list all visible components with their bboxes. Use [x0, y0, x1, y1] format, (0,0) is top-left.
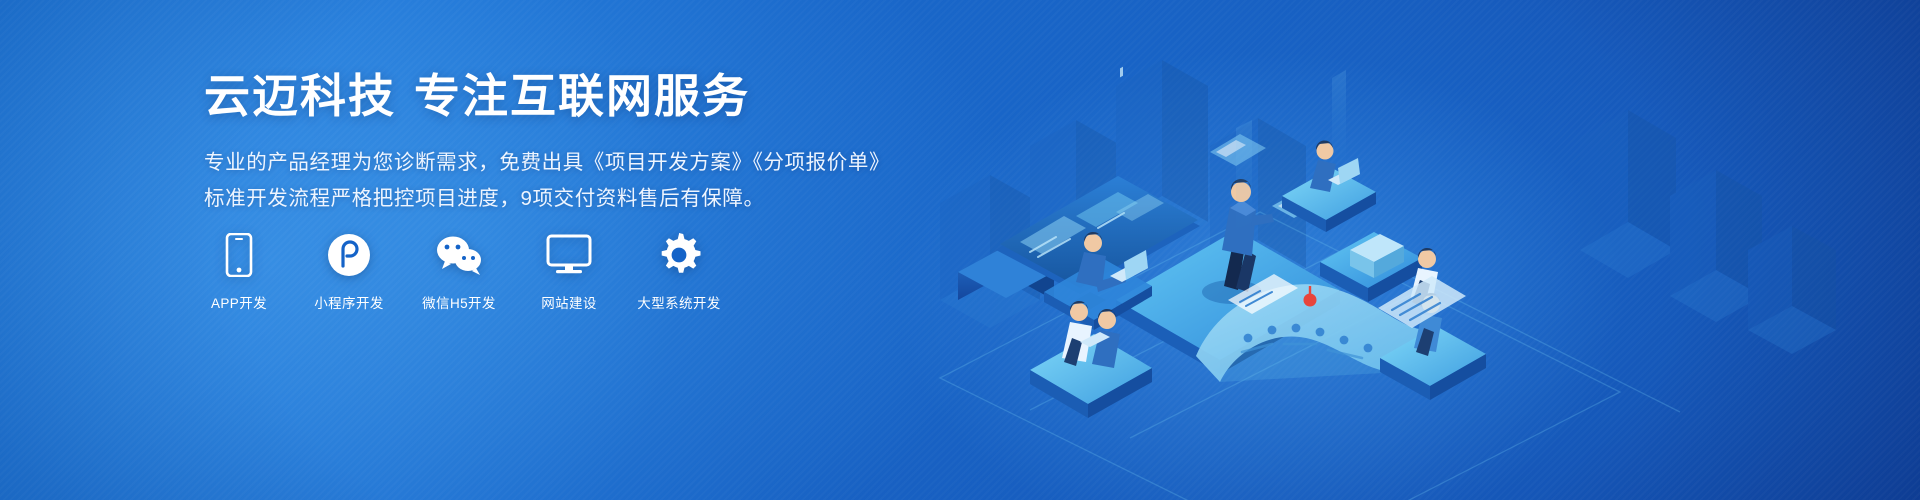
mini-program-icon	[327, 232, 371, 278]
service-label: APP开发	[211, 292, 267, 312]
service-list: APP开发 小程序开发	[200, 232, 718, 312]
banner-copy: 云迈科技专注互联网服务 专业的产品经理为您诊断需求，免费出具《项目开发方案》《分…	[204, 68, 944, 216]
service-label: 网站建设	[541, 292, 597, 312]
service-item-large-system[interactable]: 大型系统开发	[640, 232, 718, 312]
hero-banner: 云迈科技专注互联网服务 专业的产品经理为您诊断需求，免费出具《项目开发方案》《分…	[0, 0, 1920, 500]
gear-icon	[657, 232, 701, 278]
page-title: 云迈科技专注互联网服务	[204, 68, 944, 124]
service-item-app[interactable]: APP开发	[200, 232, 278, 312]
service-item-website[interactable]: 网站建设	[530, 232, 608, 312]
service-item-mini-program[interactable]: 小程序开发	[310, 232, 388, 312]
headline-tagline: 专注互联网服务	[414, 70, 750, 122]
service-label: 微信H5开发	[422, 292, 496, 312]
isometric-team-dashboard-illustration	[880, 0, 1920, 500]
headline-brand: 云迈科技	[204, 70, 396, 122]
mobile-phone-icon	[224, 232, 254, 278]
subtitle-line-2: 标准开发流程严格把控项目进度，9项交付资料售后有保障。	[204, 182, 944, 216]
service-item-wechat-h5[interactable]: 微信H5开发	[420, 232, 498, 312]
wechat-icon	[435, 232, 483, 278]
service-label: 小程序开发	[314, 292, 384, 312]
subtitle-line-1: 专业的产品经理为您诊断需求，免费出具《项目开发方案》《分项报价单》	[204, 146, 944, 180]
monitor-icon	[546, 232, 592, 278]
service-label: 大型系统开发	[637, 292, 720, 312]
